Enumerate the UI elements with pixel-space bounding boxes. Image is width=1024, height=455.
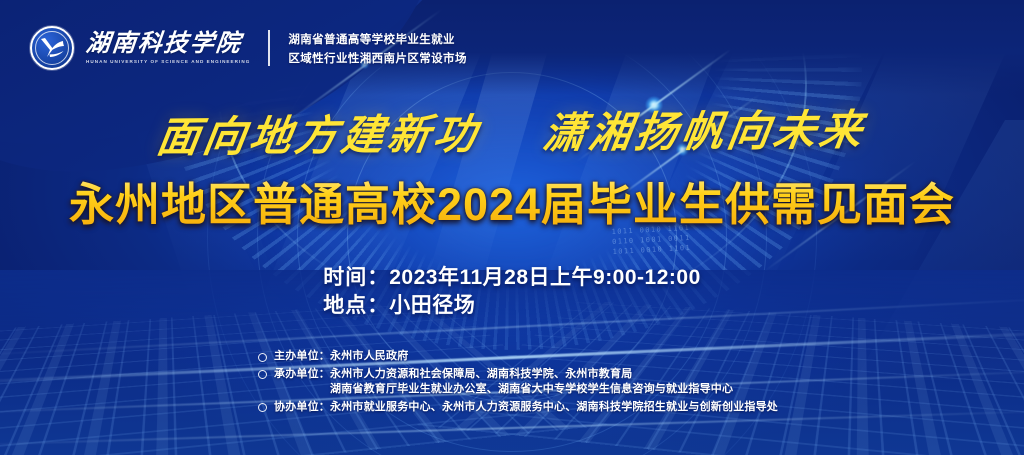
- logo-chinese-name: 湖南科技学院: [85, 31, 252, 55]
- organizer-label: 承办单位：: [274, 368, 330, 380]
- organizer-value: 永州市就业服务中心、永州市人力资源服务中心、湖南科技学院招生就业与创新创业指导处: [330, 401, 778, 413]
- logo-english-name: HUNAN UNIVERSITY OF SCIENCE AND ENGINEER…: [86, 60, 250, 65]
- circle-bullet-icon: [258, 370, 267, 379]
- time-label: 时间：: [323, 266, 389, 289]
- header-subtitle-line-1: 湖南省普通高等学校毕业生就业: [288, 31, 467, 47]
- organizer-line: 主办单位：永州市人民政府: [274, 349, 408, 365]
- time-value: 2023年11月28日上午9:00-12:00: [389, 266, 701, 289]
- organizer-body: 协办单位：永州市就业服务中心、永州市人力资源服务中心、湖南科技学院招生就业与创新…: [274, 400, 778, 416]
- circle-bullet-icon: [258, 403, 267, 412]
- slogan-part-1: 面向地方建新功: [154, 109, 484, 161]
- organizer-body: 主办单位：永州市人民政府: [274, 349, 408, 365]
- list-item: 承办单位：永州市人力资源和社会保障局、湖南科技学院、永州市教育局 湖南省教育厅毕…: [258, 367, 898, 398]
- header-subtitle-line-2: 区域性行业性湘西南片区常设市场: [288, 50, 467, 66]
- organizer-line: 协办单位：永州市就业服务中心、永州市人力资源服务中心、湖南科技学院招生就业与创新…: [274, 400, 778, 416]
- organizer-line-continued: 湖南省教育厅毕业生就业办公室、湖南省大中专学校学生信息咨询与就业指导中心: [274, 382, 733, 398]
- organizer-value: 永州市人民政府: [330, 350, 408, 362]
- organizer-value: 永州市人力资源和社会保障局、湖南科技学院、永州市教育局: [330, 368, 632, 380]
- page-title: 永州地区普通高校2024届毕业生供需见面会: [0, 168, 1024, 233]
- event-banner: 1011 0010 1101 0110 1001 0011 1011 0010 …: [0, 0, 1024, 455]
- organizer-label: 协办单位：: [274, 401, 330, 413]
- header-divider: [268, 30, 270, 66]
- event-info: 时间：2023年11月28日上午9:00-12:00 地点：小田径场: [0, 264, 1024, 320]
- event-time-row: 时间：2023年11月28日上午9:00-12:00: [323, 264, 701, 292]
- list-item: 协办单位：永州市就业服务中心、永州市人力资源服务中心、湖南科技学院招生就业与创新…: [258, 400, 898, 416]
- circle-bullet-icon: [258, 353, 267, 362]
- organizer-label: 主办单位：: [274, 350, 330, 362]
- organizer-line: 承办单位：永州市人力资源和社会保障局、湖南科技学院、永州市教育局: [274, 367, 733, 383]
- place-label: 地点：: [323, 294, 389, 317]
- slogan-part-2: 潇湘扬帆向未来: [540, 105, 870, 157]
- place-value: 小田径场: [389, 294, 475, 317]
- list-item: 主办单位：永州市人民政府: [258, 349, 898, 365]
- event-place-row: 地点：小田径场: [323, 292, 701, 320]
- header-subtitle: 湖南省普通高等学校毕业生就业 区域性行业性湘西南片区常设市场: [288, 31, 467, 66]
- banner-header: 湖南科技学院 HUNAN UNIVERSITY OF SCIENCE AND E…: [30, 26, 467, 70]
- calligraphy-slogan: 面向地方建新功 潇湘扬帆向未来: [0, 95, 1024, 167]
- organizer-list: 主办单位：永州市人民政府 承办单位：永州市人力资源和社会保障局、湖南科技学院、永…: [258, 349, 898, 417]
- logo-wordmark: 湖南科技学院 HUNAN UNIVERSITY OF SCIENCE AND E…: [86, 31, 250, 65]
- organizer-body: 承办单位：永州市人力资源和社会保障局、湖南科技学院、永州市教育局 湖南省教育厅毕…: [274, 367, 733, 398]
- university-crest-icon: [30, 26, 74, 70]
